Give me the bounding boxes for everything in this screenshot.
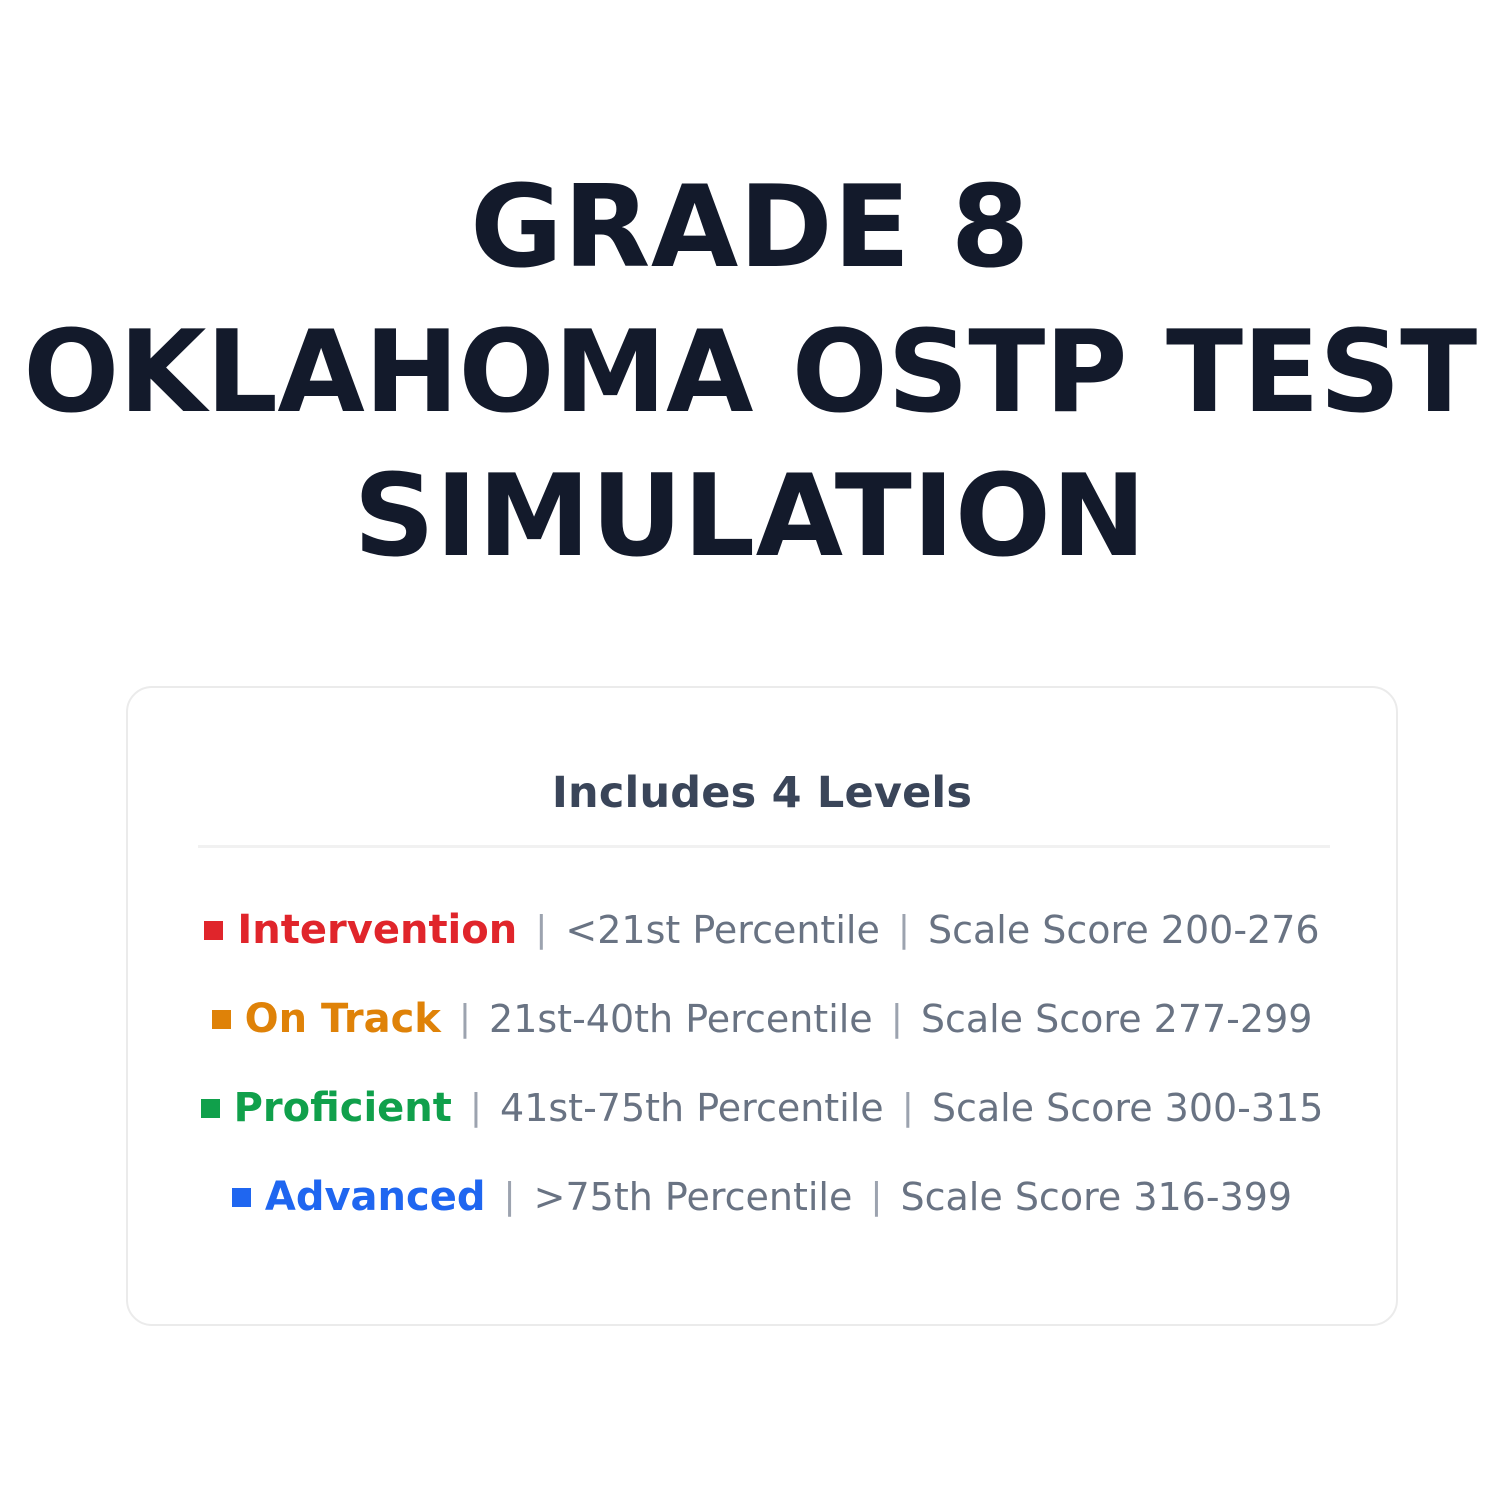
page-root: GRADE 8 OKLAHOMA OSTP TEST SIMULATION In… — [0, 0, 1500, 1500]
square-bullet-icon — [204, 921, 223, 940]
level-separator: | — [517, 909, 565, 950]
level-separator: | — [852, 1176, 900, 1217]
list-item: Proficient | 41st-75th Percentile | Scal… — [128, 1063, 1396, 1152]
page-title-line-1: GRADE 8 — [0, 155, 1500, 300]
level-separator: | — [880, 909, 928, 950]
page-title-line-3: SIMULATION — [0, 444, 1500, 589]
levels-card-heading: Includes 4 Levels — [128, 768, 1396, 818]
levels-card: Includes 4 Levels Intervention | <21st P… — [126, 686, 1398, 1326]
square-bullet-icon — [201, 1099, 220, 1118]
level-percentile: >75th Percentile — [534, 1175, 853, 1219]
page-title: GRADE 8 OKLAHOMA OSTP TEST SIMULATION — [0, 155, 1500, 589]
list-item: On Track | 21st-40th Percentile | Scale … — [128, 974, 1396, 1063]
level-name: Advanced — [265, 1174, 486, 1220]
square-bullet-icon — [212, 1010, 231, 1029]
level-scale-score: Scale Score 200-276 — [928, 908, 1320, 952]
level-percentile: 41st-75th Percentile — [500, 1086, 884, 1130]
level-name: On Track — [245, 996, 441, 1042]
level-separator: | — [452, 1087, 500, 1128]
level-separator: | — [485, 1176, 533, 1217]
list-item: Advanced | >75th Percentile | Scale Scor… — [128, 1152, 1396, 1241]
level-percentile: 21st-40th Percentile — [489, 997, 873, 1041]
square-bullet-icon — [232, 1188, 251, 1207]
level-scale-score: Scale Score 316-399 — [901, 1175, 1293, 1219]
level-scale-score: Scale Score 277-299 — [921, 997, 1313, 1041]
level-scale-score: Scale Score 300-315 — [932, 1086, 1324, 1130]
levels-list: Intervention | <21st Percentile | Scale … — [128, 885, 1396, 1241]
level-percentile: <21st Percentile — [565, 908, 879, 952]
level-separator: | — [884, 1087, 932, 1128]
card-divider — [198, 845, 1330, 848]
level-separator: | — [441, 998, 489, 1039]
level-name: Proficient — [234, 1085, 452, 1131]
page-title-line-2: OKLAHOMA OSTP TEST — [0, 300, 1500, 445]
list-item: Intervention | <21st Percentile | Scale … — [128, 885, 1396, 974]
level-name: Intervention — [237, 907, 517, 953]
level-separator: | — [873, 998, 921, 1039]
